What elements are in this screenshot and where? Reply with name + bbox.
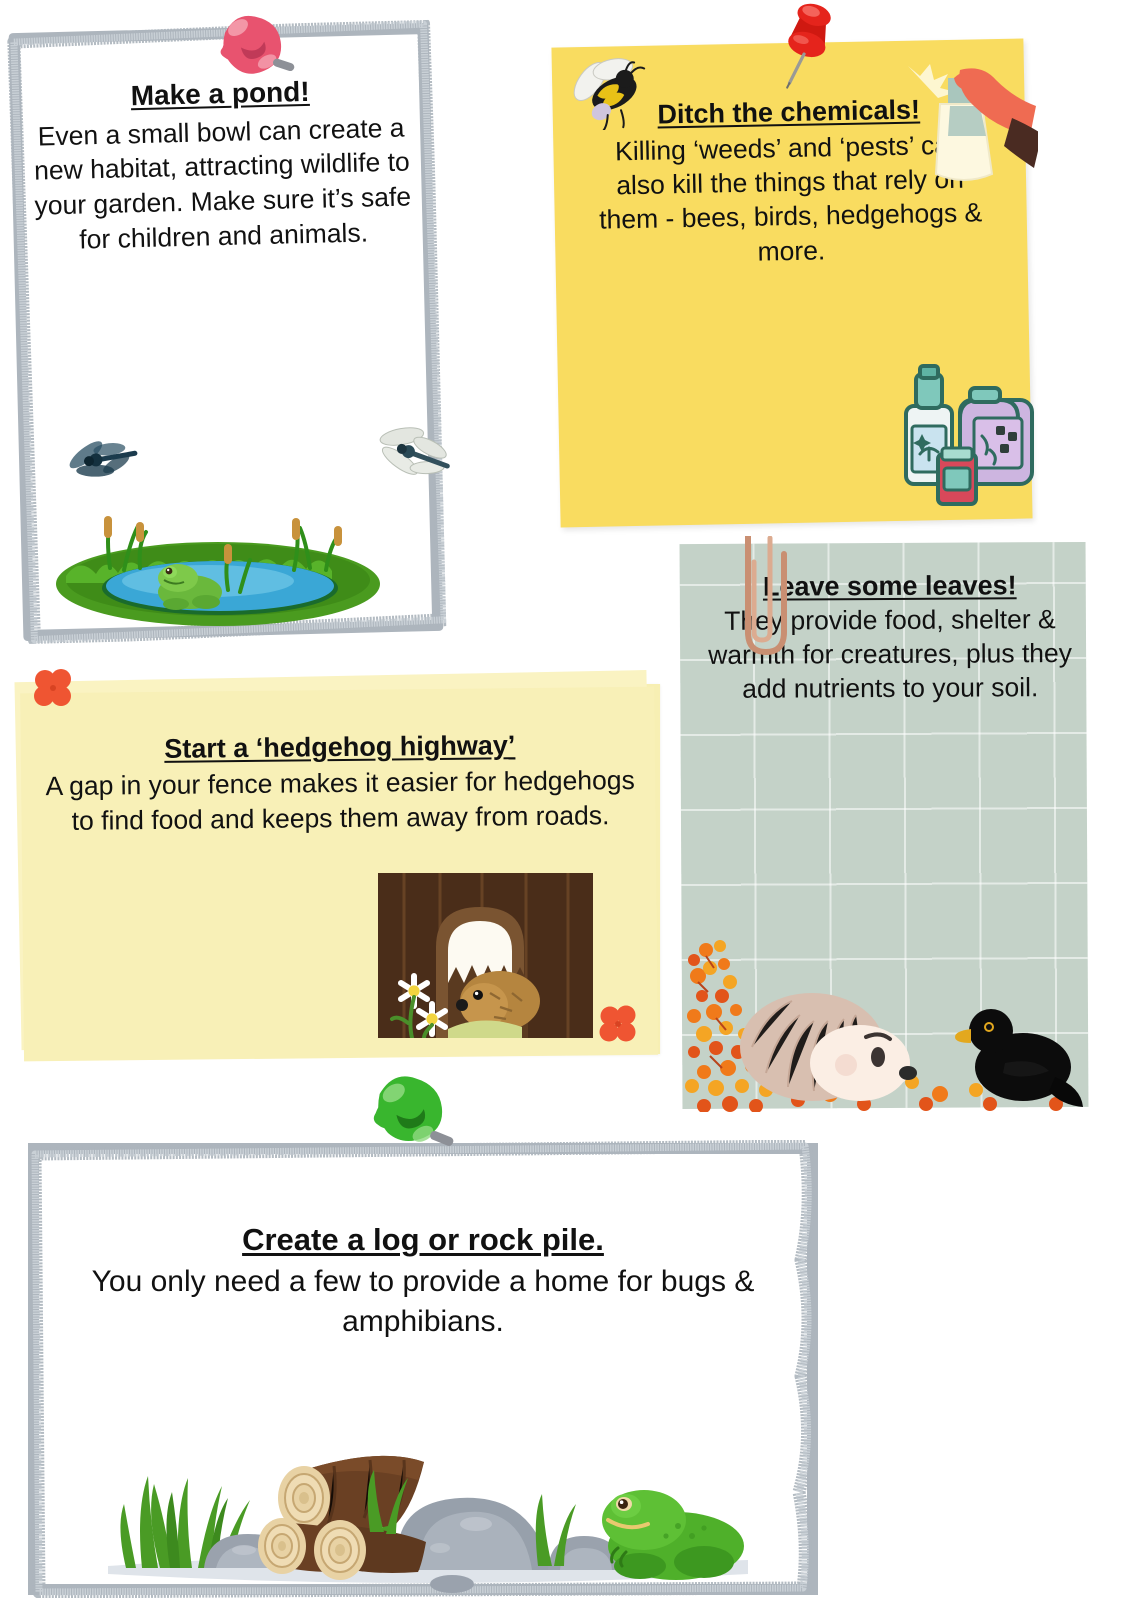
card-title: Start a ‘hedgehog highway’ [39,727,641,768]
card-hedgehog-highway: Start a ‘hedgehog highway’ A gap in your… [16,665,670,1062]
card-body: You only need a few to provide a home fo… [62,1262,784,1342]
card-make-a-pond: Make a pond! Even a small bowl can creat… [9,23,444,641]
card-leave-some-leaves: Leave some leaves! They provide food, sh… [680,542,1089,1109]
card-log-or-rock-pile: Create a log or rock pile. You only need… [28,1143,818,1595]
card-ditch-the-chemicals: Ditch the chemicals! Killing ‘weeds’ and… [551,39,1032,528]
card-body: Even a small bowl can create a new habit… [29,110,416,258]
card-body: They provide food, shelter & warmth for … [706,602,1075,706]
card-title: Ditch the chemicals! [596,91,981,133]
card-title: Leave some leaves! [706,568,1074,604]
card-title: Create a log or rock pile. [62,1219,784,1260]
card-body: A gap in your fence makes it easier for … [39,763,642,838]
card-body: Killing ‘weeds’ and ‘pests’ can also kil… [597,127,984,272]
